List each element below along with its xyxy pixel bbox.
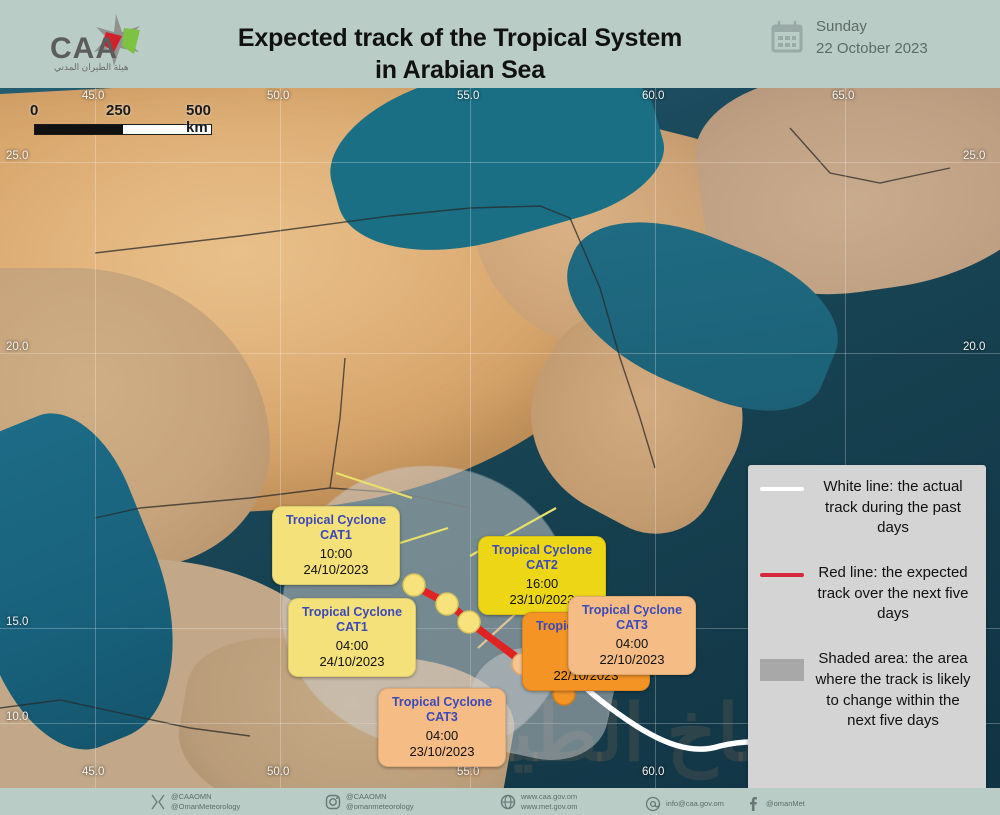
title-line-2: in Arabian Sea [160,54,760,86]
legend-text-red-line: Red line: the expected track over the ne… [812,563,974,625]
marker-cat1-1000 [403,574,425,596]
shaded-area-swatch [760,659,804,681]
cyclone-label-date: 22/10/2023 [579,652,685,668]
footer-email: info@caa.gov.om [666,799,724,809]
web-icon [500,794,516,810]
cyclone-label-cat3-0400-23[interactable]: Tropical Cyclone CAT3 04:00 23/10/2023 [378,688,506,767]
legend-row-white-line: White line: the actual track during the … [760,477,974,539]
footer-handle-2: @omanmeteorology [346,802,414,812]
legend-row-shaded-area: Shaded area: the area where the track is… [760,649,974,732]
cyclone-label-category: CAT1 [299,620,405,635]
cyclone-label-time: 10:00 [283,546,389,562]
instagram-icon [325,794,341,810]
footer-item-email[interactable]: info@caa.gov.om [645,796,724,812]
footer-item-facebook[interactable]: @omanMet [745,796,805,812]
cyclone-label-time: 04:00 [579,636,685,652]
page-title: Expected track of the Tropical System in… [160,22,760,86]
footer-url-2: www.met.gov.om [521,802,578,812]
cyclone-label-time: 16:00 [489,576,595,592]
logo-arabic-text: هيئة الطيران المدني [54,62,129,73]
footer-handle-1: @CAAOMN [346,792,414,802]
map-canvas[interactable]: 45.0 50.0 55.0 60.0 65.0 45.0 50.0 55.0 … [0,88,1000,788]
calendar-icon [770,20,804,54]
cyclone-label-date: 24/10/2023 [299,654,405,670]
cyclone-label-category: CAT1 [283,528,389,543]
cyclone-label-category: CAT3 [579,618,685,633]
red-line-swatch [760,573,804,577]
footer-handle-1: @CAAOMN [171,792,240,802]
email-icon [645,796,661,812]
cyclone-label-date: 24/10/2023 [283,562,389,578]
legend-text-shaded-area: Shaded area: the area where the track is… [812,649,974,732]
cyclone-label-date: 23/10/2023 [389,744,495,760]
legend-key-shaded-area [760,649,812,681]
title-line-1: Expected track of the Tropical System [160,22,760,54]
footer-bar: @CAAOMN @OmanMeteorology @CAAOMN @omanme… [0,788,1000,815]
caa-logo: CAA هيئة الطيران المدني [44,10,164,80]
date-block: Sunday 22 October 2023 [770,16,990,72]
cyclone-label-cat3-0400-22[interactable]: Tropical Cyclone CAT3 04:00 22/10/2023 [568,596,696,675]
cyclone-label-title: Tropical Cyclone [579,603,685,618]
map-legend: White line: the actual track during the … [748,465,986,788]
cyclone-label-cat1-0400[interactable]: Tropical Cyclone CAT1 04:00 24/10/2023 [288,598,416,677]
date-weekday: Sunday [816,16,928,38]
footer-handle-2: @OmanMeteorology [171,802,240,812]
footer-url-1: www.caa.gov.om [521,792,578,802]
legend-key-red-line [760,563,812,577]
svg-text:CAA: CAA [50,32,118,65]
date-full: 22 October 2023 [816,38,928,60]
facebook-icon [745,796,761,812]
white-line-swatch [760,487,804,491]
footer-handle: @omanMet [766,799,805,809]
legend-key-white-line [760,477,812,491]
cyclone-label-title: Tropical Cyclone [299,605,405,620]
cyclone-label-time: 04:00 [389,728,495,744]
cyclone-label-title: Tropical Cyclone [283,513,389,528]
footer-item-instagram[interactable]: @CAAOMN @omanmeteorology [325,792,414,812]
cyclone-label-category: CAT3 [389,710,495,725]
cyclone-label-cat1-1000[interactable]: Tropical Cyclone CAT1 10:00 24/10/2023 [272,506,400,585]
header-bar: CAA هيئة الطيران المدني Expected track o… [0,0,1000,88]
marker-cat1-2200 [436,593,458,615]
cyclone-label-time: 04:00 [299,638,405,654]
footer-item-website[interactable]: www.caa.gov.om www.met.gov.om [500,792,578,812]
marker-cat1-0400 [458,611,480,633]
legend-row-red-line: Red line: the expected track over the ne… [760,563,974,625]
footer-item-x-twitter[interactable]: @CAAOMN @OmanMeteorology [150,792,240,812]
legend-text-white-line: White line: the actual track during the … [812,477,974,539]
x-twitter-icon [150,794,166,810]
cyclone-label-category: CAT2 [489,558,595,573]
cyclone-label-title: Tropical Cyclone [489,543,595,558]
cyclone-label-title: Tropical Cyclone [389,695,495,710]
weather-map-infographic: CAA هيئة الطيران المدني Expected track o… [0,0,1000,815]
